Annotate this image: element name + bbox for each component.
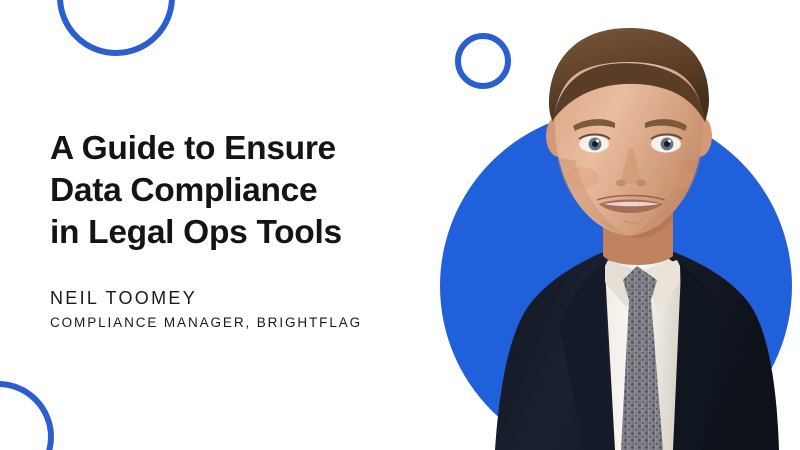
page-title: A Guide to Ensure Data Compliance in Leg… (50, 128, 430, 254)
headline-line-1: A Guide to Ensure (50, 128, 430, 170)
avatar (487, 8, 787, 450)
speaker-role: COMPLIANCE MANAGER, BRIGHTFLAG (50, 314, 362, 332)
ring-top-left-icon (57, 0, 175, 56)
presentation-slide: A Guide to Ensure Data Compliance in Leg… (0, 0, 800, 450)
speaker-name: NEIL TOOMEY (50, 286, 362, 310)
speaker-block: NEIL TOOMEY COMPLIANCE MANAGER, BRIGHTFL… (50, 286, 362, 332)
headline-block: A Guide to Ensure Data Compliance in Leg… (50, 128, 430, 254)
headline-line-3: in Legal Ops Tools (50, 212, 430, 254)
ring-bottom-left-icon (0, 381, 54, 450)
headline-line-2: Data Compliance (50, 170, 430, 212)
